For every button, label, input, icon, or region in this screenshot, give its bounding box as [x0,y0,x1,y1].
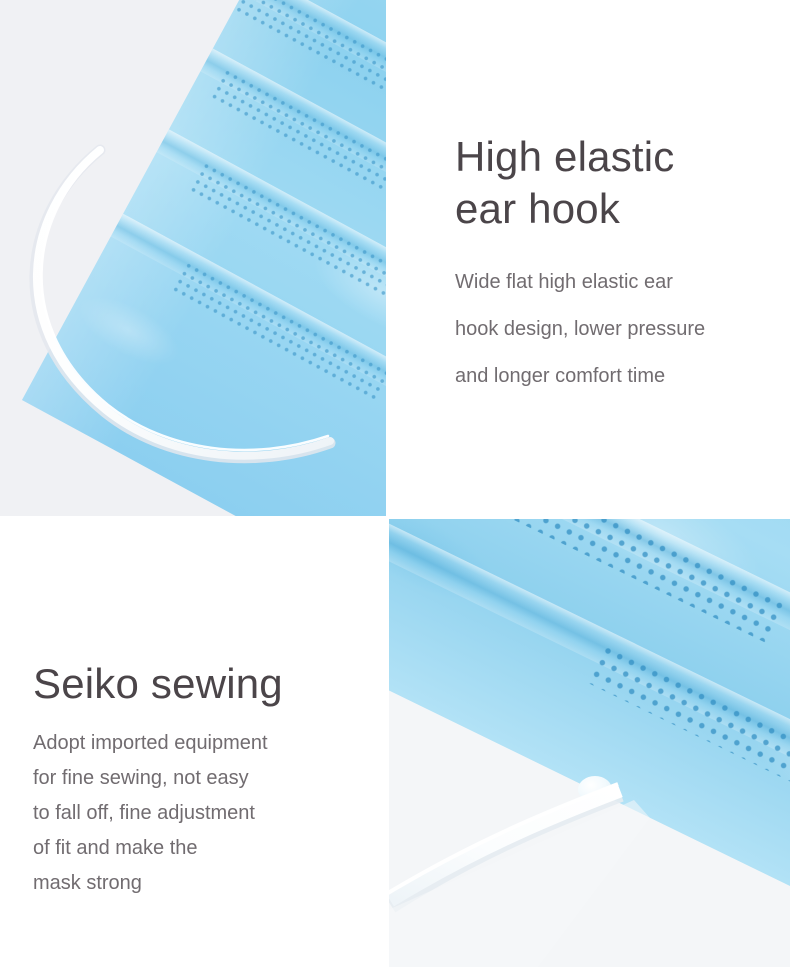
mask-ear-hook-photo [0,0,388,518]
high-elastic-ear-hook-panel: High elastic ear hook Wide flat high ela… [388,0,790,518]
ear-loop-elastic-band [388,518,790,967]
mask-photo-stage [0,0,388,518]
ear-loop-elastic-band [0,0,388,518]
seiko-sewing-panel: Seiko sewing Adopt imported equipment fo… [0,518,388,967]
panel-divider-horizontal [0,516,790,519]
feature-body-high-elastic-ear-hook: Wide flat high elastic ear hook design, … [455,259,785,400]
feature-title-seiko-sewing: Seiko sewing [33,658,363,710]
feature-title-high-elastic-ear-hook: High elastic ear hook [455,131,785,235]
mask-macro-stage [388,518,790,967]
product-feature-grid: High elastic ear hook Wide flat high ela… [0,0,790,967]
panel-divider-vertical [386,0,389,967]
feature-body-seiko-sewing: Adopt imported equipment for fine sewing… [33,726,363,901]
mask-sewing-macro-photo [388,518,790,967]
